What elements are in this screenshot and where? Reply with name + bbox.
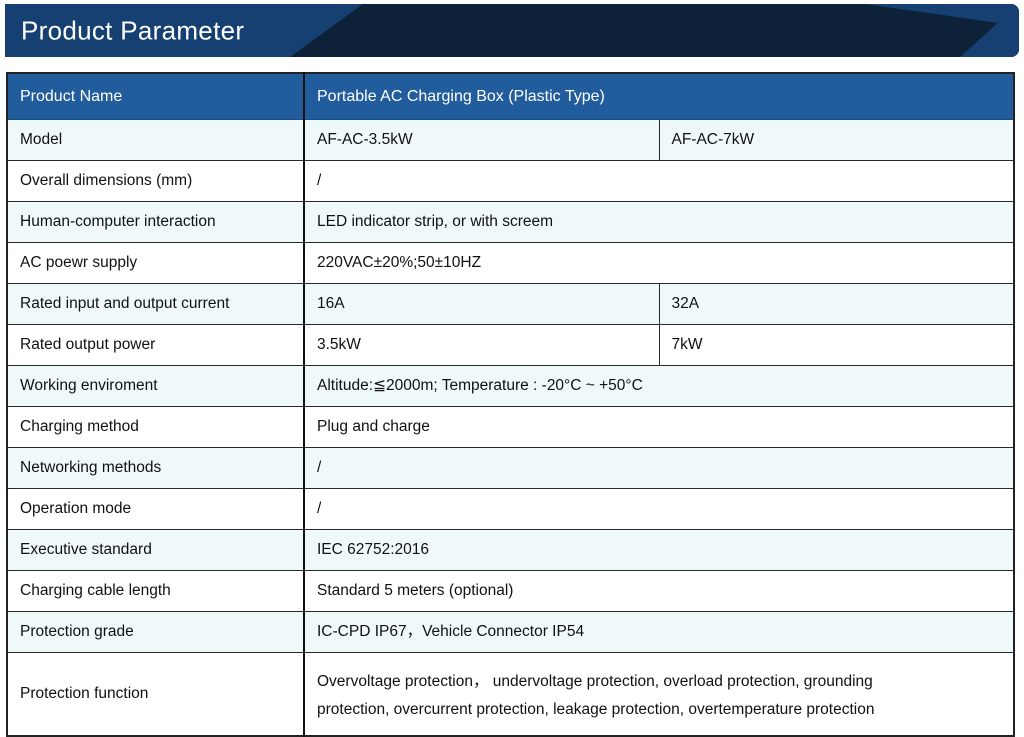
row-value-primary: 3.5kW [304, 325, 659, 366]
row-label: Executive standard [7, 530, 304, 571]
row-value: / [304, 161, 1014, 202]
row-value-secondary: 7kW [659, 325, 1014, 366]
table-row: Charging method Plug and charge [7, 407, 1014, 448]
table-row: Operation mode / [7, 489, 1014, 530]
row-value: Altitude:≦2000m; Temperature : -20°C ~ +… [304, 366, 1014, 407]
row-value: Overvoltage protection， undervoltage pro… [304, 653, 1014, 737]
table-row: Rated input and output current 16A 32A [7, 284, 1014, 325]
row-value: Standard 5 meters (optional) [304, 571, 1014, 612]
row-label: Charging cable length [7, 571, 304, 612]
row-label: Overall dimensions (mm) [7, 161, 304, 202]
row-label: Charging method [7, 407, 304, 448]
page-banner: Product Parameter [5, 4, 1019, 57]
table-body: Product Name Portable AC Charging Box (P… [7, 73, 1014, 736]
page-title: Product Parameter [21, 15, 244, 46]
row-value: Plug and charge [304, 407, 1014, 448]
table-row: Overall dimensions (mm) / [7, 161, 1014, 202]
table-row: Executive standard IEC 62752:2016 [7, 530, 1014, 571]
row-value: 220VAC±20%;50±10HZ [304, 243, 1014, 284]
product-parameter-table: Product Name Portable AC Charging Box (P… [6, 72, 1015, 737]
header-label-cell: Product Name [7, 73, 304, 120]
table-row: Protection function Overvoltage protecti… [7, 653, 1014, 737]
row-value-secondary: AF-AC-7kW [659, 120, 1014, 161]
table-row: Networking methods / [7, 448, 1014, 489]
row-label: Protection grade [7, 612, 304, 653]
row-value: LED indicator strip, or with screem [304, 202, 1014, 243]
table-row: Rated output power 3.5kW 7kW [7, 325, 1014, 366]
row-value-secondary: 32A [659, 284, 1014, 325]
table-header-row: Product Name Portable AC Charging Box (P… [7, 73, 1014, 120]
row-value-line-2: protection, overcurrent protection, leak… [317, 700, 1013, 719]
row-value: IC-CPD IP67，Vehicle Connector IP54 [304, 612, 1014, 653]
table-row: Model AF-AC-3.5kW AF-AC-7kW [7, 120, 1014, 161]
table-row: Charging cable length Standard 5 meters … [7, 571, 1014, 612]
row-value-primary: 16A [304, 284, 659, 325]
row-value: / [304, 489, 1014, 530]
row-label: Protection function [7, 653, 304, 737]
row-label: Operation mode [7, 489, 304, 530]
table-row: Working enviroment Altitude:≦2000m; Temp… [7, 366, 1014, 407]
header-value-cell: Portable AC Charging Box (Plastic Type) [304, 73, 1014, 120]
row-label: Working enviroment [7, 366, 304, 407]
row-label: Rated output power [7, 325, 304, 366]
row-value-multiline: Overvoltage protection， undervoltage pro… [317, 672, 1013, 720]
row-value: / [304, 448, 1014, 489]
table-row: Human-computer interaction LED indicator… [7, 202, 1014, 243]
row-value-primary: AF-AC-3.5kW [304, 120, 659, 161]
row-label: Rated input and output current [7, 284, 304, 325]
row-value: IEC 62752:2016 [304, 530, 1014, 571]
row-label: Human-computer interaction [7, 202, 304, 243]
row-value-line-1: Overvoltage protection， undervoltage pro… [317, 672, 1013, 691]
table-row: AC poewr supply 220VAC±20%;50±10HZ [7, 243, 1014, 284]
row-label: Model [7, 120, 304, 161]
table-row: Protection grade IC-CPD IP67，Vehicle Con… [7, 612, 1014, 653]
row-label: AC poewr supply [7, 243, 304, 284]
row-label: Networking methods [7, 448, 304, 489]
